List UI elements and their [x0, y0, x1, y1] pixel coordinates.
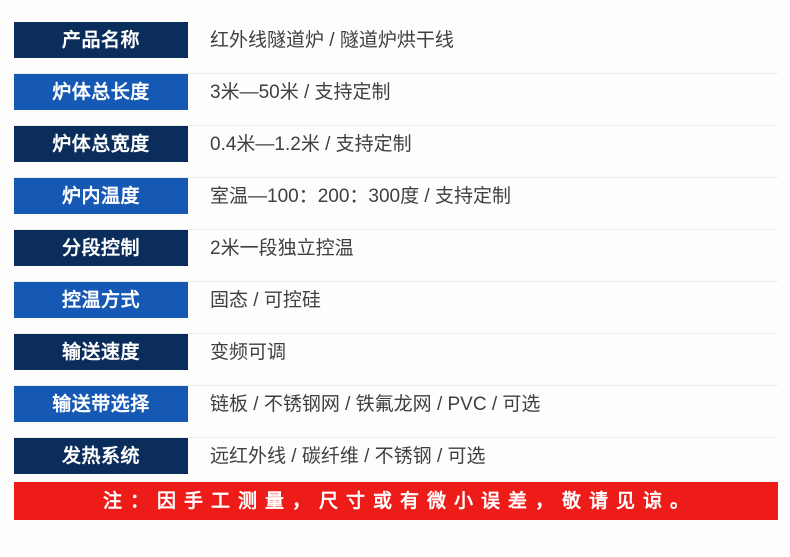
spec-label-text: 炉体总宽度: [52, 135, 150, 154]
spec-label-text: 产品名称: [62, 31, 140, 50]
table-row: 炉内温度 室温—100：200：300度 / 支持定制: [0, 178, 790, 230]
spec-value-cell: 远红外线 / 碳纤维 / 不锈钢 / 可选: [188, 438, 790, 474]
spec-value-text: 2米一段独立控温: [210, 239, 354, 258]
spec-label-cell: 产品名称: [14, 22, 188, 58]
spec-value-cell: 红外线隧道炉 / 隧道炉烘干线: [188, 22, 790, 58]
spec-label-cell: 炉体总长度: [14, 74, 188, 110]
table-row: 炉体总长度 3米—50米 / 支持定制: [0, 74, 790, 126]
spec-value-cell: 2米一段独立控温: [188, 230, 790, 266]
spec-value-text: 红外线隧道炉 / 隧道炉烘干线: [210, 31, 454, 50]
spec-label-text: 发热系统: [62, 447, 140, 466]
table-row: 输送带选择 链板 / 不锈钢网 / 铁氟龙网 / PVC / 可选: [0, 386, 790, 438]
spec-label-cell: 控温方式: [14, 282, 188, 318]
spec-label-cell: 分段控制: [14, 230, 188, 266]
table-row: 产品名称 红外线隧道炉 / 隧道炉烘干线: [0, 22, 790, 74]
spec-value-text: 室温—100：200：300度 / 支持定制: [210, 187, 511, 206]
measurement-note-text: 注：因手工测量，尺寸或有微小误差，敬请见谅。: [95, 492, 697, 511]
spec-label-text: 输送带选择: [52, 395, 150, 414]
spec-label-cell: 发热系统: [14, 438, 188, 474]
spec-value-cell: 变频可调: [188, 334, 790, 370]
spec-value-text: 远红外线 / 碳纤维 / 不锈钢 / 可选: [210, 447, 486, 466]
spec-value-text: 0.4米—1.2米 / 支持定制: [210, 135, 412, 154]
spec-value-text: 链板 / 不锈钢网 / 铁氟龙网 / PVC / 可选: [210, 395, 540, 414]
spec-value-cell: 固态 / 可控硅: [188, 282, 790, 318]
spec-value-cell: 链板 / 不锈钢网 / 铁氟龙网 / PVC / 可选: [188, 386, 790, 422]
spec-label-cell: 输送速度: [14, 334, 188, 370]
spec-label-text: 炉体总长度: [52, 83, 150, 102]
spec-label-text: 炉内温度: [62, 187, 140, 206]
spec-label-text: 输送速度: [62, 343, 140, 362]
spec-value-cell: 室温—100：200：300度 / 支持定制: [188, 178, 790, 214]
measurement-note-banner: 注：因手工测量，尺寸或有微小误差，敬请见谅。: [14, 482, 778, 520]
spec-label-text: 分段控制: [62, 239, 140, 258]
spec-label-cell: 炉体总宽度: [14, 126, 188, 162]
spec-value-cell: 3米—50米 / 支持定制: [188, 74, 790, 110]
spec-value-text: 固态 / 可控硅: [210, 291, 321, 310]
table-row: 分段控制 2米一段独立控温: [0, 230, 790, 282]
spec-value-cell: 0.4米—1.2米 / 支持定制: [188, 126, 790, 162]
table-row: 控温方式 固态 / 可控硅: [0, 282, 790, 334]
specification-sheet: 产品名称 红外线隧道炉 / 隧道炉烘干线 炉体总长度 3米—50米 / 支持定制…: [0, 0, 790, 557]
table-row: 输送速度 变频可调: [0, 334, 790, 386]
spec-label-text: 控温方式: [62, 291, 140, 310]
spec-label-cell: 输送带选择: [14, 386, 188, 422]
spec-value-text: 3米—50米 / 支持定制: [210, 83, 391, 102]
table-row: 炉体总宽度 0.4米—1.2米 / 支持定制: [0, 126, 790, 178]
spec-label-cell: 炉内温度: [14, 178, 188, 214]
spec-value-text: 变频可调: [210, 343, 286, 362]
